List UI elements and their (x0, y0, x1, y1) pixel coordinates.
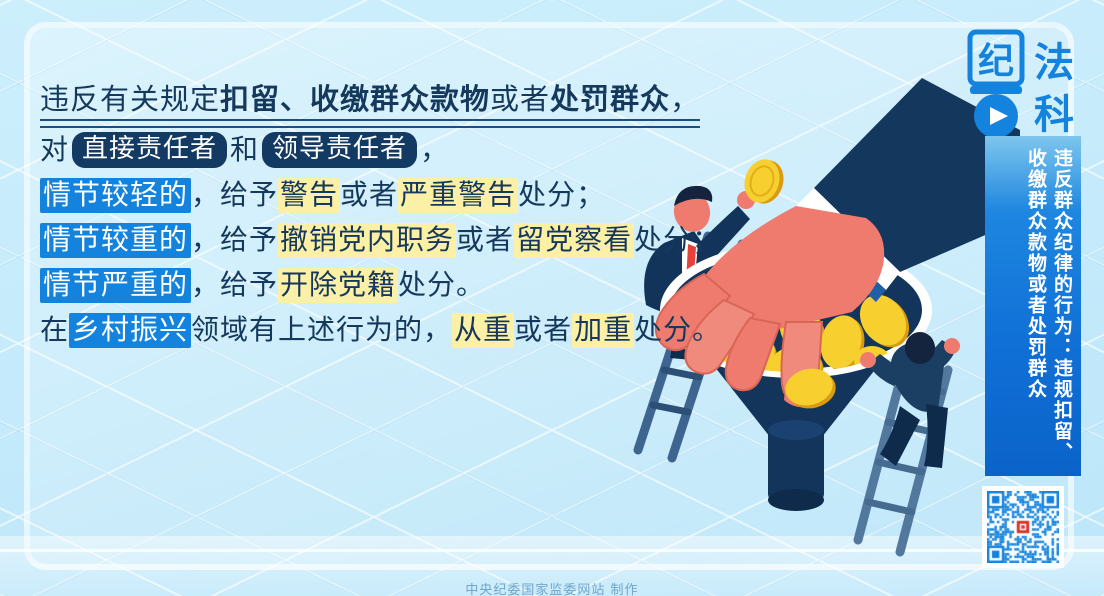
line3-t2: 或者 (340, 180, 398, 211)
badge-direct-responsible: 直接责任者 (72, 132, 227, 168)
line6-t2: 或者 (514, 315, 572, 346)
text-line-1: 违反有关规定扣留、收缴群众款物或者处罚群众， (40, 78, 680, 128)
line4-condition: 情节较重的 (40, 223, 191, 258)
logo-char-fa: 法 (1034, 40, 1074, 86)
line3-penalty-1: 警告 (278, 178, 340, 213)
line6-t3: 处分。 (634, 315, 721, 346)
line6-t1: 领域有上述行为的， (191, 315, 452, 346)
line3-t1: ，给予 (191, 180, 278, 211)
line6-domain: 乡村振兴 (69, 313, 191, 348)
line1-prefix: 违反有关规定 (40, 84, 220, 116)
text-line-3: 情节较轻的，给予警告或者严重警告处分； (40, 173, 680, 218)
line2-suffix: ， (420, 135, 449, 166)
qr-code[interactable] (982, 486, 1064, 568)
main-text: 违反有关规定扣留、收缴群众款物或者处罚群众， 对直接责任者和领导责任者， 情节较… (40, 78, 680, 353)
line4-t3: 处分； (634, 225, 721, 256)
line4-t2: 或者 (456, 225, 514, 256)
line4-penalty-1: 撤销党内职务 (278, 223, 456, 258)
line2-prefix: 对 (40, 135, 69, 166)
logo-char-ke: 科 (1034, 92, 1074, 138)
logo-char-ji: 纪 (978, 41, 1014, 82)
badge-leadership-responsible: 领导责任者 (262, 132, 417, 168)
line1-bold2: 处罚群众 (550, 84, 670, 116)
line6-aggravation-2: 加重 (572, 313, 634, 348)
line1-mid: 或者 (490, 84, 550, 116)
businessman-right (858, 332, 960, 552)
text-line-4: 情节较重的，给予撤销党内职务或者留党察看处分； (40, 218, 680, 263)
line5-penalty-1: 开除党籍 (278, 268, 398, 303)
text-line-2: 对直接责任者和领导责任者， (40, 128, 680, 173)
line6-aggravation-1: 从重 (452, 313, 514, 348)
line3-condition: 情节较轻的 (40, 178, 191, 213)
line2-mid: 和 (230, 135, 259, 166)
line5-t2: 处分。 (398, 270, 485, 301)
text-line-6: 在乡村振兴领域有上述行为的，从重或者加重处分。 (40, 308, 680, 353)
line5-condition: 情节严重的 (40, 268, 191, 303)
vertical-banner-text: 违反群众纪律的行为：违规扣留、收缴群众款物或者处罚群众 (991, 148, 1075, 464)
credit-line: 中央纪委国家监委网站 制作 (0, 579, 1104, 596)
line1-suffix: ， (670, 84, 700, 116)
line1-bold1: 扣留、收缴群众款物 (220, 84, 490, 116)
vertical-banner: 违反群众纪律的行为：违规扣留、收缴群众款物或者处罚群众 (985, 136, 1081, 476)
line6-t0: 在 (40, 315, 69, 346)
line4-penalty-2: 留党察看 (514, 223, 634, 258)
line3-penalty-2: 严重警告 (398, 178, 518, 213)
line3-t3: 处分； (518, 180, 605, 211)
line4-t1: ，给予 (191, 225, 278, 256)
line5-t1: ，给予 (191, 270, 278, 301)
poster: 违反有关规定扣留、收缴群众款物或者处罚群众， 对直接责任者和领导责任者， 情节较… (0, 0, 1104, 596)
brand-logo: 纪 法 科 (964, 28, 1084, 140)
text-line-5: 情节严重的，给予开除党籍处分。 (40, 263, 680, 308)
